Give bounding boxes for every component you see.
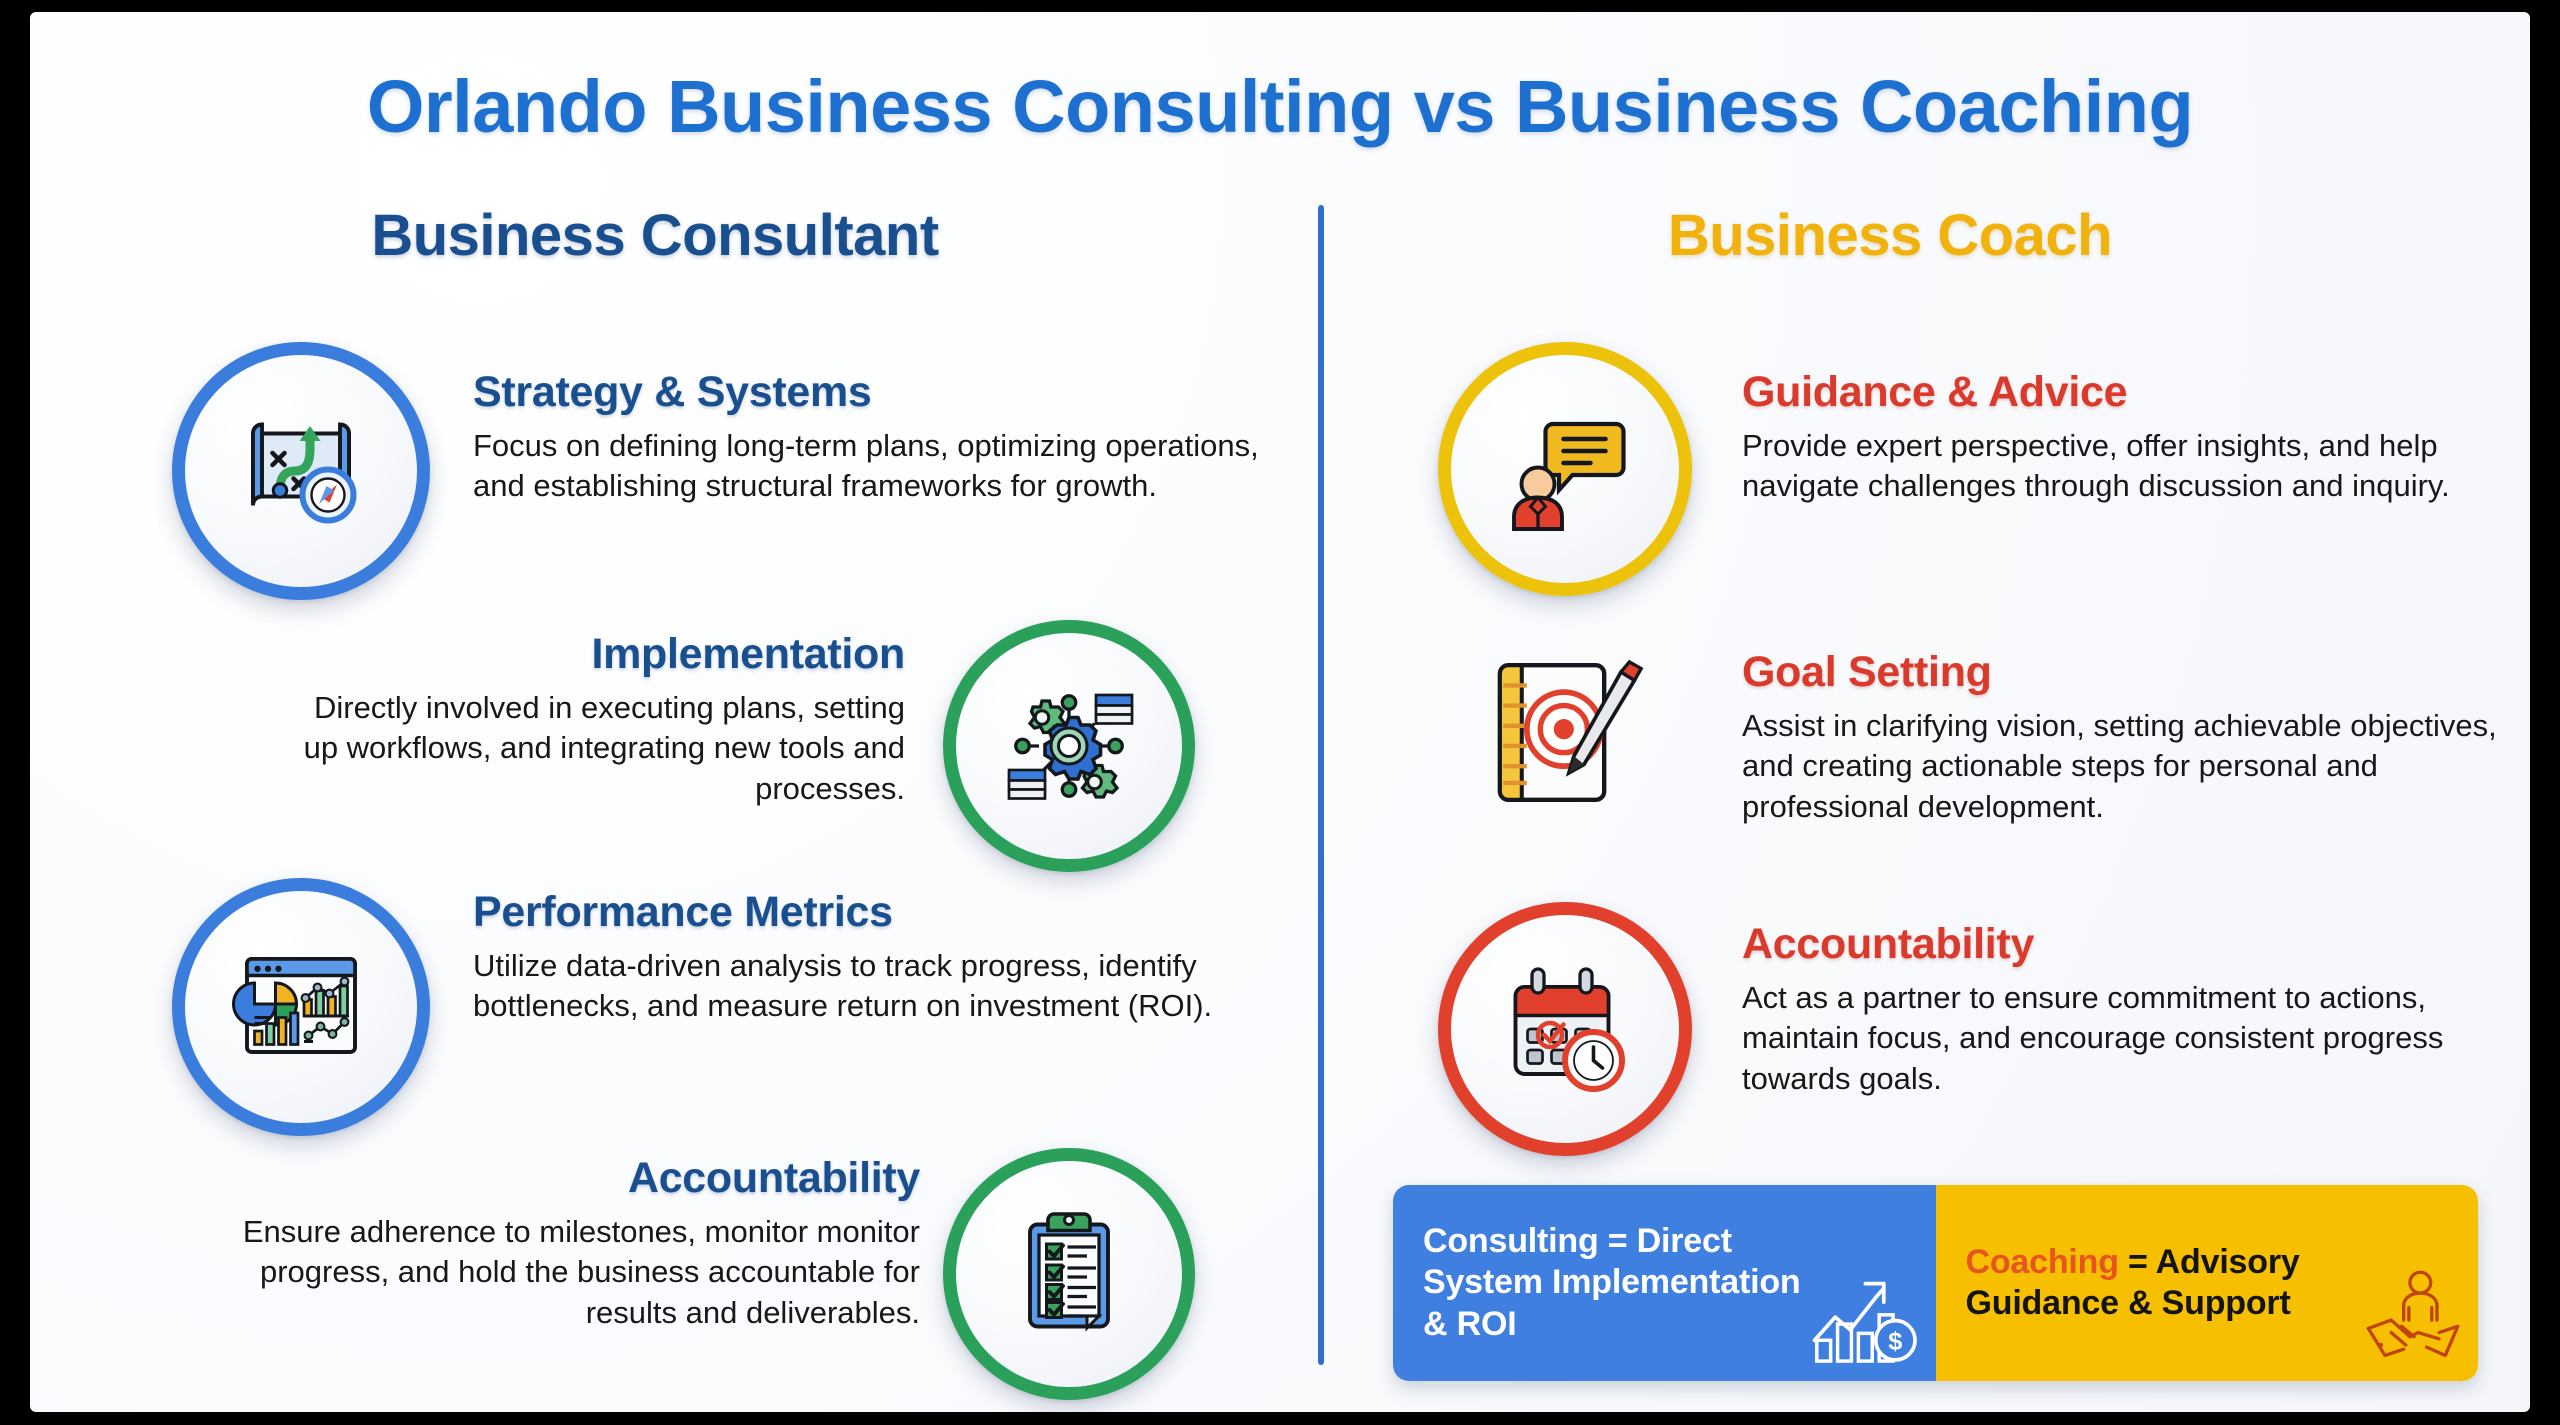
right-item-3: Accountability Act as a partner to ensur…: [1742, 920, 2502, 1099]
left-item-4-title: Accountability: [230, 1154, 920, 1203]
svg-text:$: $: [1888, 1328, 1902, 1356]
calendar-clock-icon: [1438, 902, 1692, 1156]
handshake-icon: [2360, 1268, 2464, 1373]
summary-consulting-text: Consulting = Direct System Implementatio…: [1423, 1221, 1800, 1345]
left-item-2-body: Directly involved in executing plans, se…: [275, 688, 905, 809]
summary-banner: Consulting = Direct System Implementatio…: [1393, 1185, 2478, 1381]
analytics-dashboard-icon: [172, 878, 430, 1136]
summary-coaching-text: Coaching = Advisory Guidance & Support: [1966, 1242, 2300, 1325]
left-item-3-body: Utilize data-driven analysis to track pr…: [473, 946, 1263, 1027]
notebook-target-pen-icon: [1460, 632, 1670, 832]
checklist-clipboard-icon: [943, 1148, 1195, 1400]
left-item-1: Strategy & Systems Focus on defining lon…: [473, 368, 1263, 507]
summary-coaching-line2: Guidance & Support: [1966, 1284, 2291, 1322]
summary-consulting: Consulting = Direct System Implementatio…: [1393, 1185, 1936, 1381]
column-heading-consultant: Business Consultant: [30, 202, 1280, 269]
left-item-3-title: Performance Metrics: [473, 888, 1263, 937]
summary-coaching-line1-rest: = Advisory: [2119, 1243, 2300, 1281]
summary-consulting-line1: Consulting = Direct: [1423, 1222, 1732, 1260]
column-divider: [1318, 205, 1324, 1365]
page-title: Orlando Business Consulting vs Business …: [30, 64, 2530, 149]
right-item-2: Goal Setting Assist in clarifying vision…: [1742, 648, 2502, 827]
left-item-4: Accountability Ensure adherence to miles…: [230, 1154, 920, 1333]
gears-network-icon: [943, 620, 1195, 872]
right-item-1-body: Provide expert perspective, offer insigh…: [1742, 426, 2502, 507]
screenshot-frame: Orlando Business Consulting vs Business …: [0, 0, 2560, 1425]
left-item-2-title: Implementation: [275, 630, 905, 679]
summary-consulting-line2: System Implementation: [1423, 1263, 1800, 1301]
infographic-canvas: Orlando Business Consulting vs Business …: [30, 12, 2530, 1412]
growth-chart-dollar-icon: $: [1804, 1264, 1922, 1373]
summary-coaching-highlight: Coaching: [1966, 1243, 2119, 1281]
left-item-3: Performance Metrics Utilize data-driven …: [473, 888, 1263, 1027]
right-item-3-body: Act as a partner to ensure commitment to…: [1742, 978, 2502, 1099]
right-item-3-title: Accountability: [1742, 920, 2502, 969]
summary-coaching: Coaching = Advisory Guidance & Support: [1936, 1185, 2479, 1381]
left-item-1-body: Focus on defining long-term plans, optim…: [473, 426, 1263, 507]
column-heading-coach: Business Coach: [1280, 202, 2500, 269]
right-item-2-body: Assist in clarifying vision, setting ach…: [1742, 706, 2502, 827]
right-item-1: Guidance & Advice Provide expert perspec…: [1742, 368, 2502, 507]
right-item-2-title: Goal Setting: [1742, 648, 2502, 697]
roadmap-compass-icon: [172, 342, 430, 600]
summary-consulting-line3: & ROI: [1423, 1305, 1516, 1343]
right-item-1-title: Guidance & Advice: [1742, 368, 2502, 417]
left-item-2: Implementation Directly involved in exec…: [275, 630, 905, 809]
person-speech-bubble-icon: [1438, 342, 1692, 596]
left-item-1-title: Strategy & Systems: [473, 368, 1263, 417]
left-item-4-body: Ensure adherence to milestones, monitor …: [230, 1212, 920, 1333]
